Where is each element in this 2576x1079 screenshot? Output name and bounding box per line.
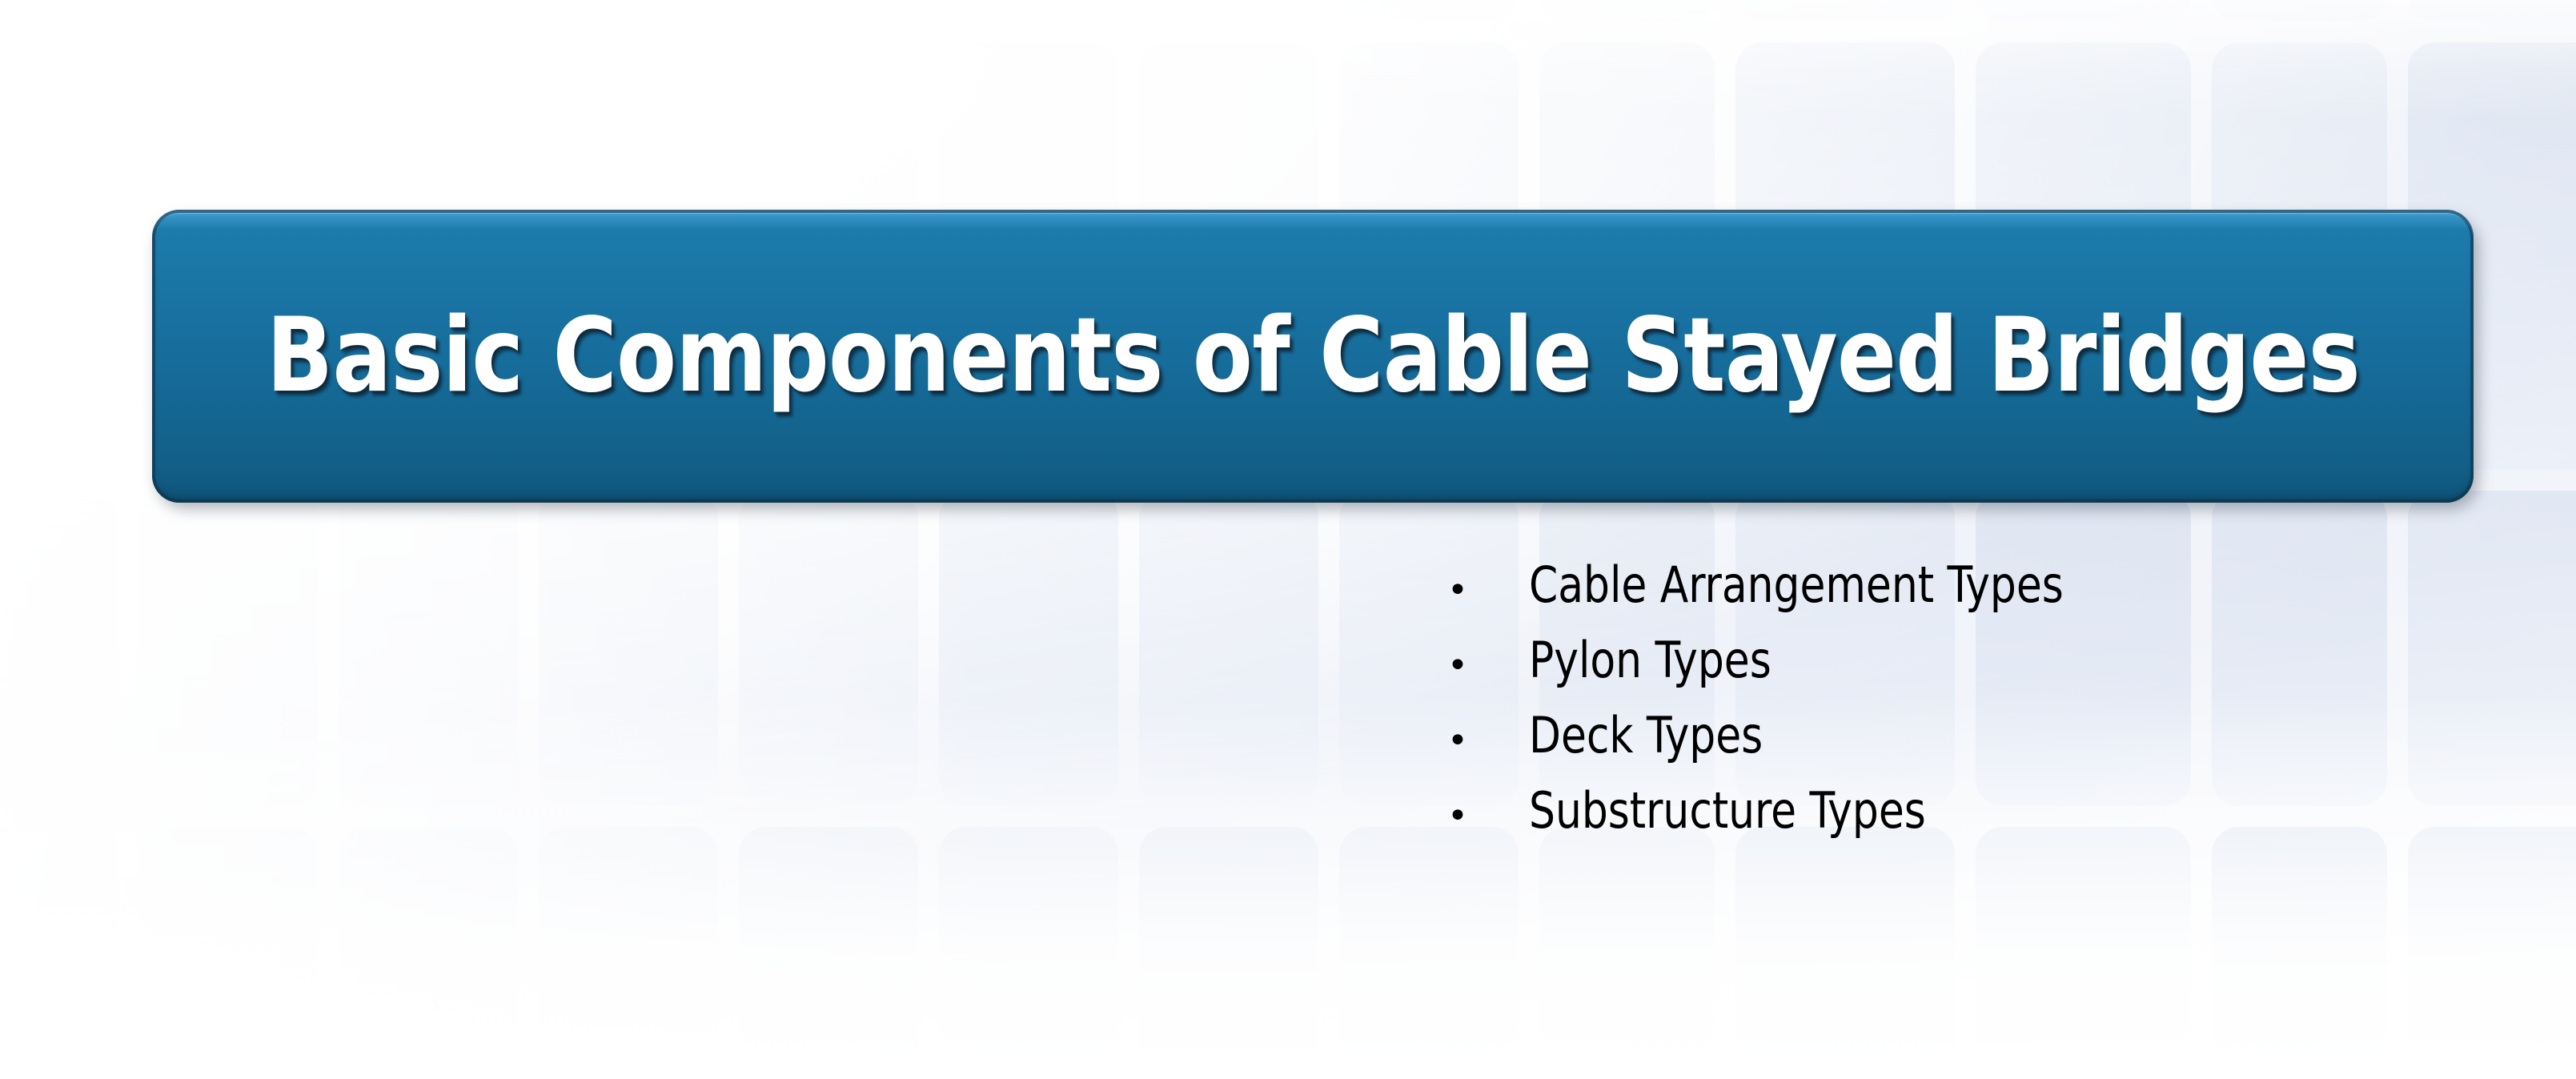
presentation-slide: Basic Components of Cable Stayed Bridges… (0, 0, 2576, 1079)
list-item: • Substructure Types (1441, 786, 2401, 861)
list-item-label: Deck Types (1529, 711, 1763, 760)
title-banner: Basic Components of Cable Stayed Bridges (152, 210, 2474, 503)
page-title: Basic Components of Cable Stayed Bridges (266, 305, 2359, 407)
list-item-label: Pylon Types (1529, 636, 1772, 685)
list-item: • Pylon Types (1441, 636, 2401, 711)
bullet-list: • Cable Arrangement Types • Pylon Types … (1441, 560, 2401, 861)
list-item: • Cable Arrangement Types (1441, 560, 2401, 636)
list-item-label: Substructure Types (1529, 786, 1926, 836)
list-item: • Deck Types (1441, 711, 2401, 786)
bullet-point-icon: • (1441, 573, 1529, 608)
list-item-label: Cable Arrangement Types (1529, 560, 2064, 610)
bullet-point-icon: • (1441, 648, 1529, 684)
bullet-point-icon: • (1441, 799, 1529, 834)
bullet-point-icon: • (1441, 724, 1529, 759)
background-top-wash (0, 0, 2576, 120)
slide-background (0, 0, 2576, 1079)
